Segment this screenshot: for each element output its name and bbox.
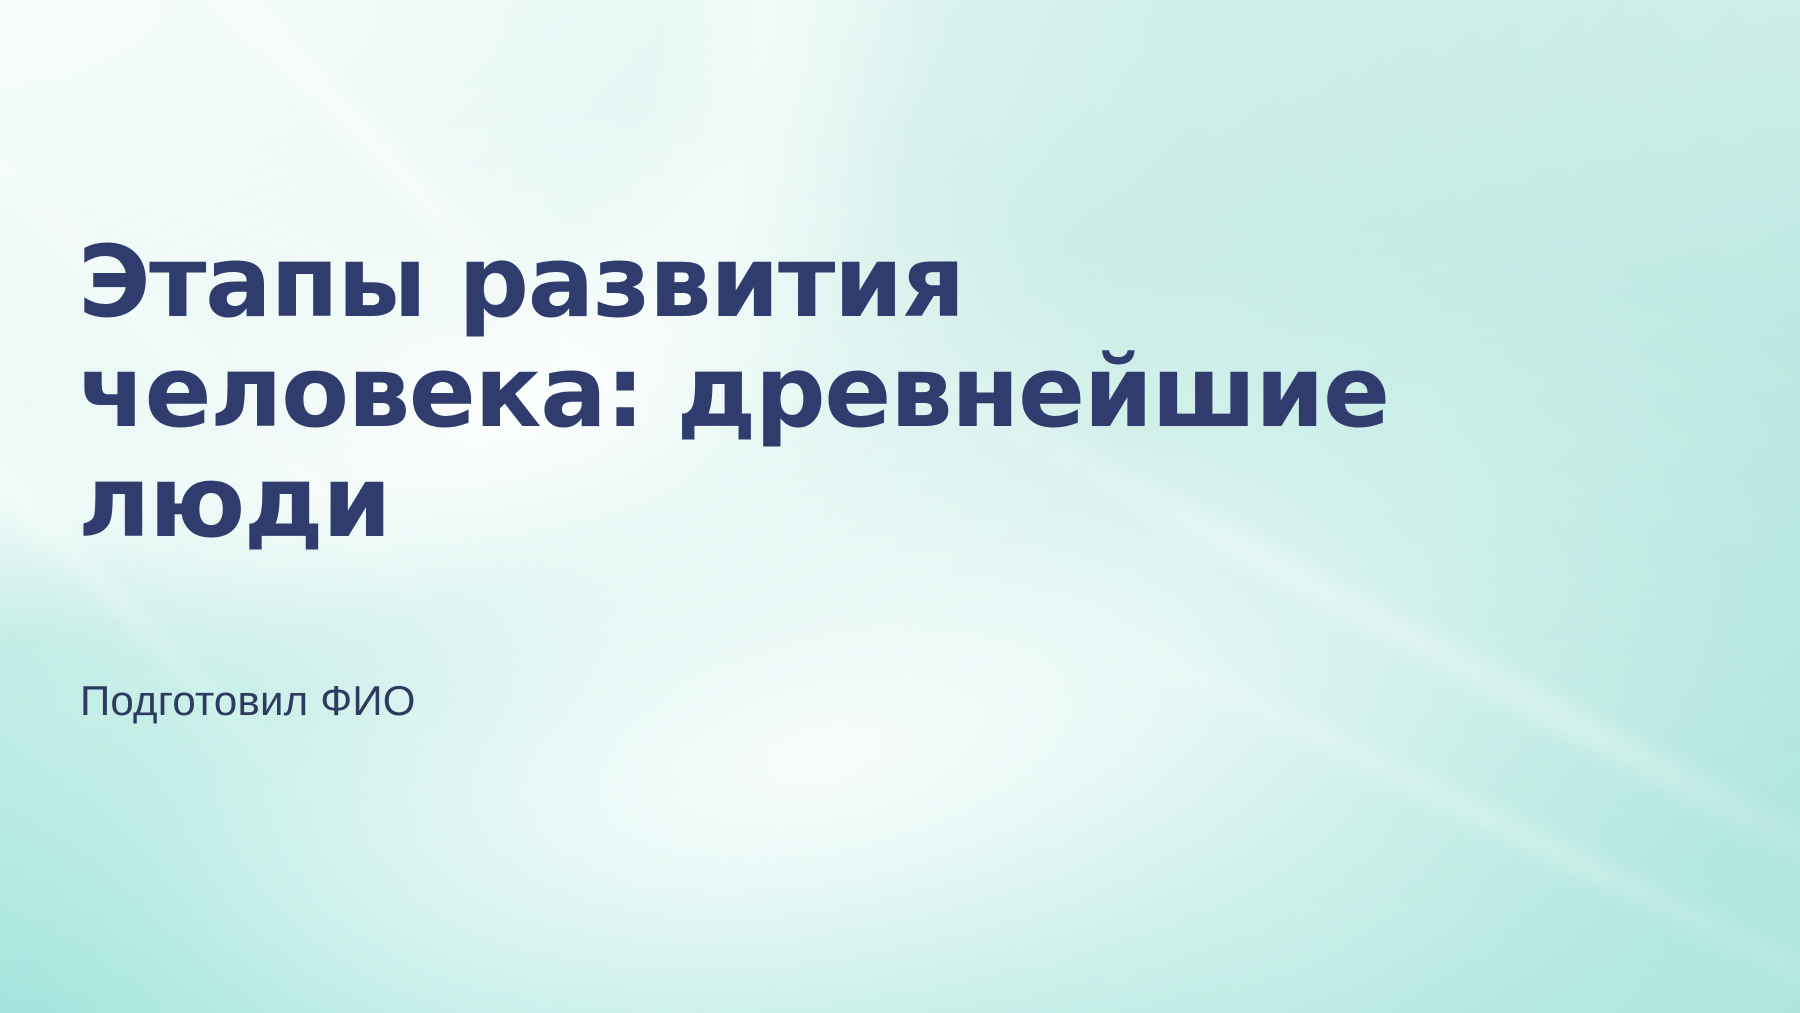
presentation-title-slide: Этапы развития человека: древнейшие люди… bbox=[0, 0, 1800, 1013]
slide-subtitle-author: Подготовил ФИО bbox=[80, 675, 416, 727]
slide-title: Этапы развития человека: древнейшие люди bbox=[78, 228, 1548, 558]
slide-content: Этапы развития человека: древнейшие люди… bbox=[78, 0, 1638, 1013]
